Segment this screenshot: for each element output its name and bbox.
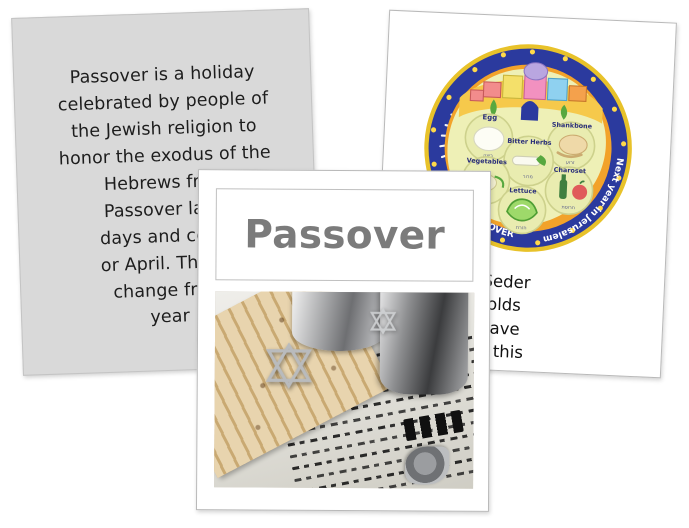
svg-text:מרור: מרור [523,175,533,180]
matzah-haggadah-photo [214,291,474,489]
svg-text:זרוע: זרוע [566,161,575,166]
well-lettuce: Lettuce חזרת [497,185,546,234]
page-title: Passover [244,212,445,258]
svg-text:Lettuce: Lettuce [509,186,537,195]
svg-text:חרוסת: חרוסת [561,206,575,212]
star-of-david-icon [266,342,312,388]
card-set-stage: Passover is a holiday celebrated by peop… [0,0,689,528]
star-of-david-small-icon [370,308,396,334]
kiddush-cup-secondary-icon [380,291,469,394]
title-card[interactable]: Passover [196,169,491,512]
svg-text:Egg: Egg [482,113,497,122]
title-box: Passover [215,188,474,282]
svg-text:חזרת: חזרת [516,226,527,231]
svg-text:Charoset: Charoset [554,166,587,175]
